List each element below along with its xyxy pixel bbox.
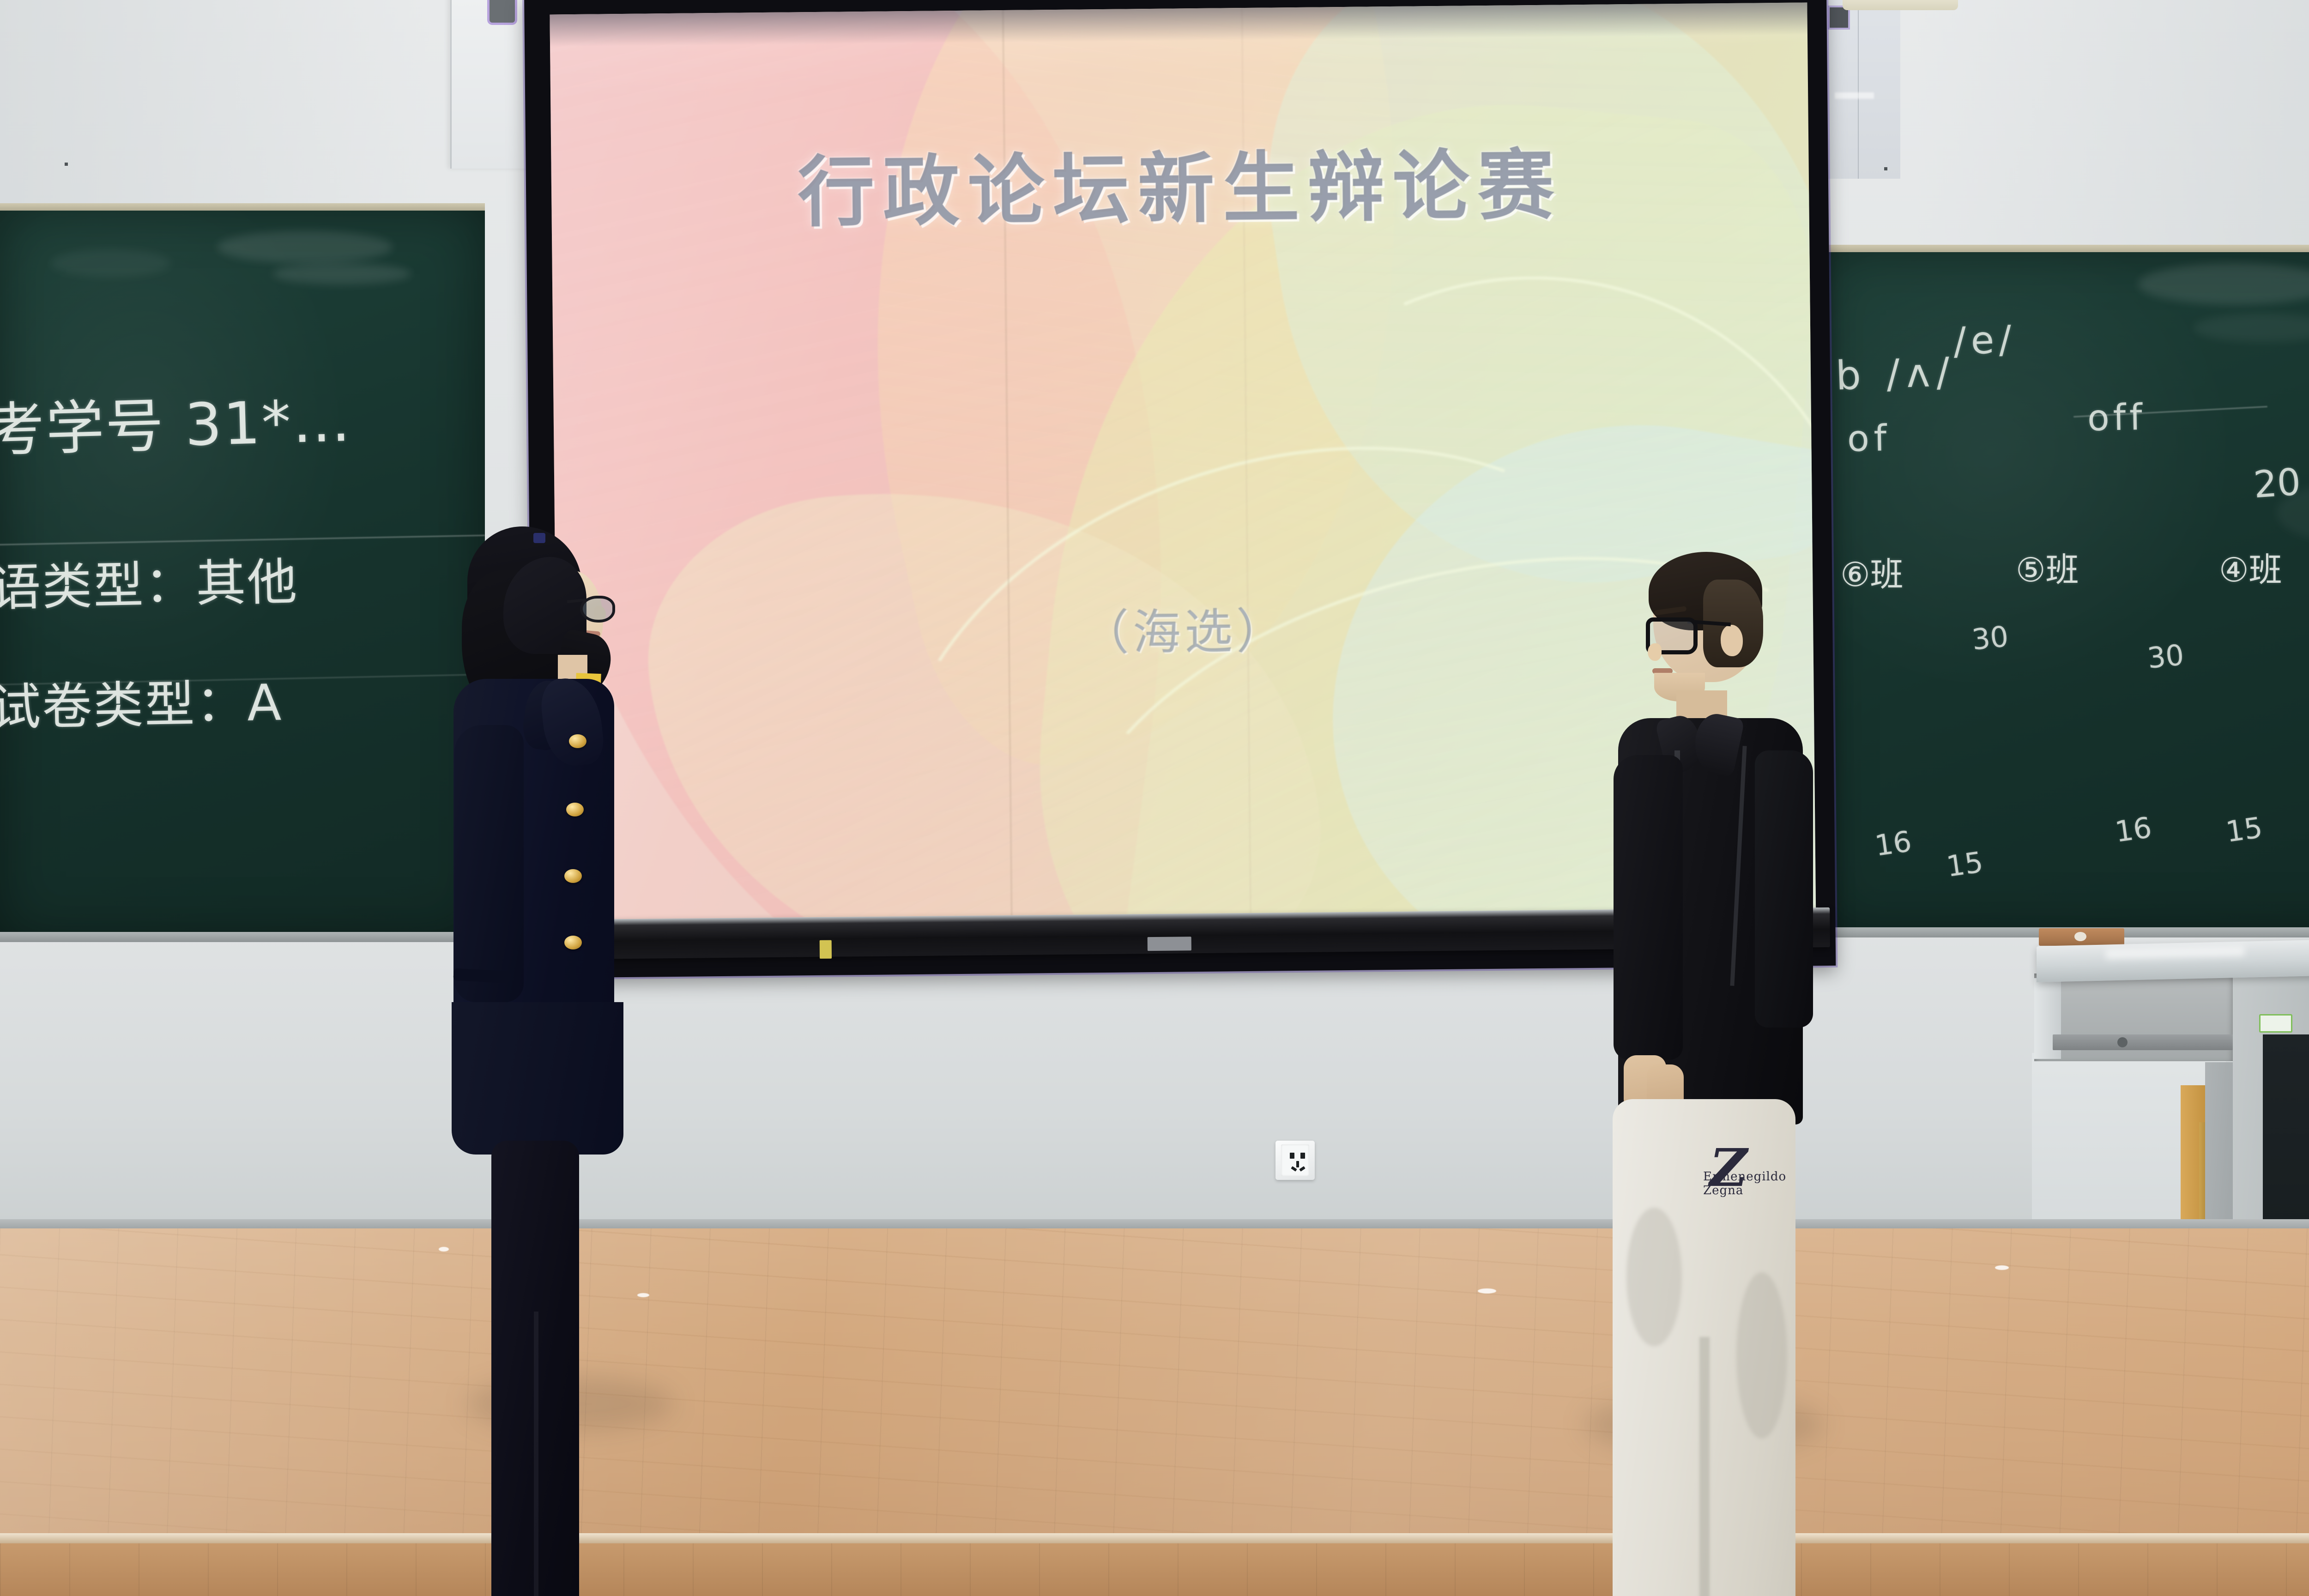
desk-drawer-screw xyxy=(2117,1037,2128,1047)
floor-speck xyxy=(1478,1288,1496,1294)
stage-front-edge xyxy=(0,1533,2309,1543)
person-left-coat-button xyxy=(564,936,582,949)
pants-logo-text: Ermenegildo Zegna xyxy=(1703,1170,1791,1197)
chalk-smear xyxy=(2138,263,2309,305)
classroom-photo-scene: 考学号 31*… 语类型：其他 试卷类型：A b /ʌ/ /e/ of off … xyxy=(0,0,2309,1596)
screen-pull-tab xyxy=(820,940,832,959)
slide-title: 行政论坛新生辩论赛 xyxy=(551,120,1809,243)
pants-fold xyxy=(1626,1208,1682,1346)
chalk-smear xyxy=(217,231,393,263)
pants-fold xyxy=(1736,1272,1787,1439)
desk-asset-label xyxy=(2259,1014,2292,1033)
blackboard-right-phonetic-4: off xyxy=(2087,397,2146,439)
blackboard-right-count-1: 30 xyxy=(1970,619,2010,657)
outlet-slot xyxy=(1296,1161,1299,1167)
person-left-hair-clip xyxy=(533,533,545,543)
chalk-smear xyxy=(2194,314,2309,342)
person-right-nose xyxy=(1648,643,1662,661)
floor-speck xyxy=(1995,1265,2009,1270)
wall-panel-left xyxy=(450,0,531,169)
blackboard-left-line-2: 语类型：其他 xyxy=(0,542,299,620)
outlet-slot xyxy=(1290,1153,1294,1159)
person-left-sleeve xyxy=(454,725,524,1002)
lower-wall xyxy=(0,937,2309,1256)
ceiling-trim xyxy=(1843,0,1958,10)
blackboard-right-phonetic-5: 20 xyxy=(2252,460,2302,507)
blackboard-left-line-3: 试卷类型：A xyxy=(0,662,283,739)
blackboard-left-top-trim xyxy=(0,203,485,211)
outlet-slot xyxy=(1300,1153,1305,1159)
chalk-stick xyxy=(2074,932,2086,941)
desk-drawer-rail xyxy=(2053,1034,2233,1050)
person-left-coat-button xyxy=(566,803,584,816)
blackboard-right-number-3: 16 xyxy=(2113,810,2153,849)
blackboard-right-number-1: 16 xyxy=(1873,824,1913,863)
person-right-ear xyxy=(1721,625,1743,656)
person-left-coat-hem xyxy=(452,1002,623,1155)
person-right-sleeve-right xyxy=(1755,750,1813,1028)
wall-panel-right-smudge xyxy=(1835,92,1874,99)
wall-panel-left-screw xyxy=(65,163,68,166)
outlet-slot xyxy=(1299,1166,1305,1172)
person-left-coat-button xyxy=(569,734,586,748)
chalk-smear xyxy=(51,249,171,277)
blackboard-right-class-row-3: ④班 xyxy=(2219,543,2282,591)
screen-bar-clip xyxy=(1148,937,1191,951)
stage-riser-face xyxy=(0,1543,2309,1596)
blackboard-right-number-4: 15 xyxy=(2224,810,2264,849)
blackboard-right-class-row-2: ⑤班 xyxy=(2016,543,2079,591)
blackboard-right-phonetic-3: of xyxy=(1847,417,1892,460)
person-left-glasses-icon xyxy=(580,596,615,623)
blackboard-right-class-row-1: ⑥班 xyxy=(1840,547,1904,596)
person-right: Z Ermenegildo Zegna xyxy=(1584,552,1824,1448)
blackboard-right-number-2: 15 xyxy=(1944,845,1985,883)
blackboard-right-phonetic-1: b /ʌ/ xyxy=(1835,349,1957,399)
blackboard-right-phonetic-2: /e/ xyxy=(1952,318,2017,364)
person-right-leg-gap xyxy=(1699,1337,1710,1596)
blackboard-left-line-1: 考学号 31*… xyxy=(0,374,353,468)
blackboard-right-count-2: 30 xyxy=(2146,638,2185,675)
blackboard-left-chalk-tray xyxy=(0,932,485,942)
person-left-coat-button xyxy=(564,869,582,883)
person-left xyxy=(443,526,656,1422)
person-left-leg-gap xyxy=(534,1312,538,1596)
chalk-smear xyxy=(272,263,411,284)
wall-panel-right-screw xyxy=(1884,167,1887,170)
person-right-sleeve-left xyxy=(1614,755,1683,1060)
blackboard-right-top-trim xyxy=(1815,245,2309,252)
screen-mount-bracket-right-icon xyxy=(1830,7,1848,28)
wall-outlet-icon xyxy=(1275,1141,1315,1180)
stage-floor-sheen xyxy=(0,1228,2309,1547)
wall-outlet-face xyxy=(1281,1144,1309,1176)
screen-mount-bracket-left-icon xyxy=(490,0,515,23)
